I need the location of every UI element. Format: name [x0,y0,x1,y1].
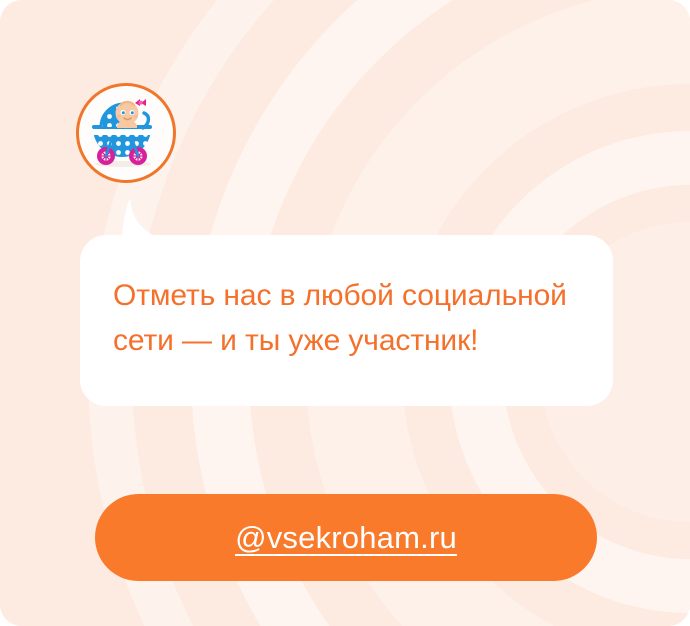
baby-stroller-icon [87,94,165,172]
speech-bubble: Отметь нас в любой социальной сети — и т… [80,235,613,406]
promo-poster: Отметь нас в любой социальной сети — и т… [0,0,690,626]
hair-bow-icon [135,99,146,106]
brand-logo-badge [76,83,176,183]
website-cta-button[interactable]: @vsekroham.ru [95,494,597,581]
bubble-message: Отметь нас в любой социальной сети — и т… [113,273,583,363]
cta-button-label: @vsekroham.ru [235,521,457,555]
